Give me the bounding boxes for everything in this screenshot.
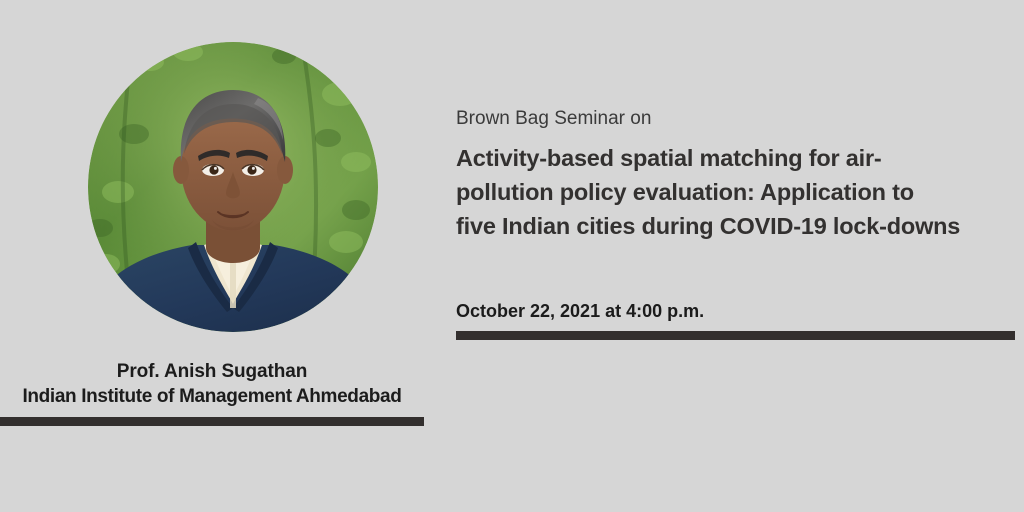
speaker-portrait: [88, 42, 378, 332]
details-accent-bar: [456, 331, 1015, 340]
seminar-title-line: pollution policy evaluation: Application…: [456, 175, 1016, 209]
speaker-block: Prof. Anish Sugathan Indian Institute of…: [0, 0, 424, 430]
speaker-affiliation: Indian Institute of Management Ahmedabad: [0, 385, 424, 409]
seminar-title-line: Activity-based spatial matching for air-: [456, 141, 1016, 175]
seminar-details-block: Brown Bag Seminar on Activity-based spat…: [456, 0, 1016, 512]
seminar-datetime: October 22, 2021 at 4:00 p.m.: [456, 299, 704, 323]
seminar-announcement-banner: Prof. Anish Sugathan Indian Institute of…: [0, 0, 1024, 512]
seminar-title-line: five Indian cities during COVID-19 lock-…: [456, 209, 1016, 243]
seminar-title: Activity-based spatial matching for air-…: [456, 141, 1016, 243]
speaker-name: Prof. Anish Sugathan: [0, 360, 424, 384]
seminar-eyebrow-label: Brown Bag Seminar on: [456, 107, 651, 131]
speaker-accent-bar: [0, 417, 424, 426]
